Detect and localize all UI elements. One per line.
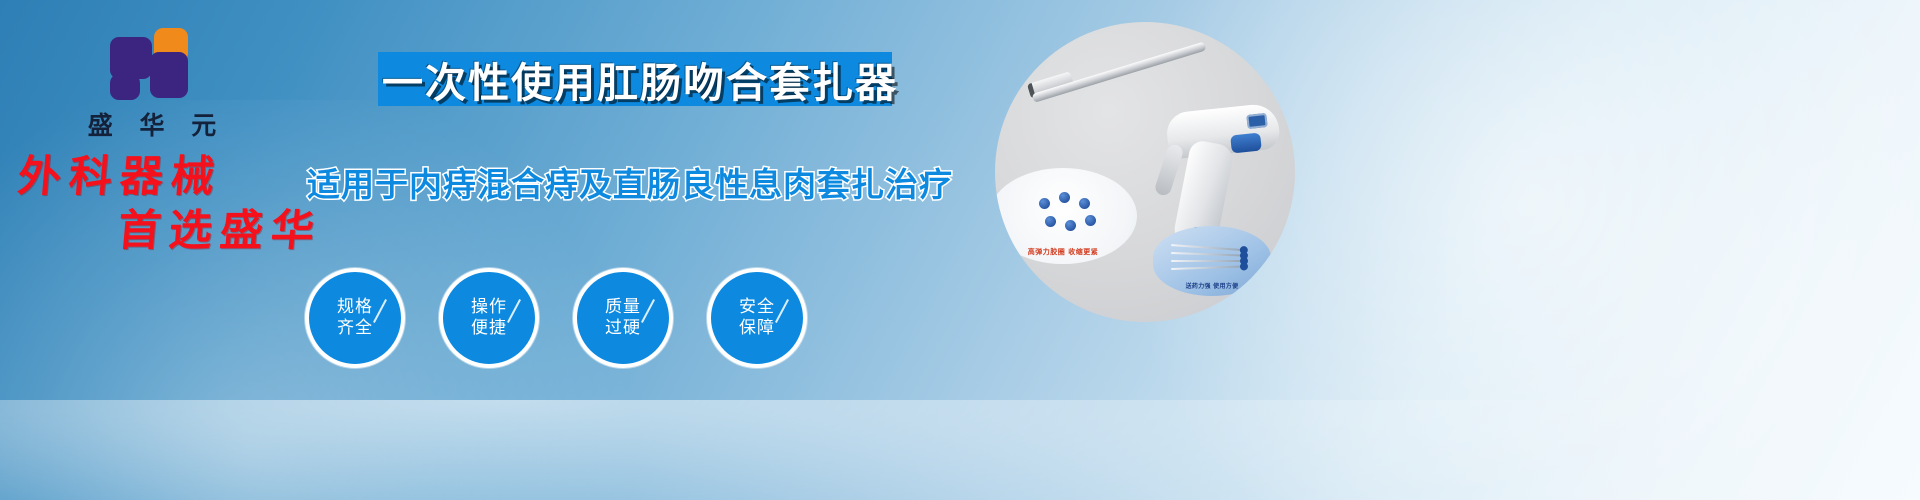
- feature-badge-list: 规格 齐全 操作 便捷 质量 过硬 安全 保障: [305, 268, 865, 368]
- feature-badge[interactable]: 质量 过硬: [573, 268, 673, 368]
- badge-slash-decor: [373, 299, 387, 323]
- brand-logo-icon: [110, 28, 194, 100]
- feature-badge[interactable]: 安全 保障: [707, 268, 807, 368]
- brand-logo[interactable]: 盛 华 元: [62, 28, 242, 142]
- brand-name: 盛 华 元: [62, 106, 242, 142]
- promo-banner: 盛 华 元 外科器械 首选盛华 一次性使用肛肠吻合套扎器 适用于内痔混合痔及直肠…: [0, 0, 1920, 500]
- inset-device-tip: [1185, 306, 1295, 322]
- badge-label-line2: 过硬: [605, 318, 641, 339]
- badge-slash-decor: [775, 299, 789, 323]
- badge-label-line2: 保障: [739, 318, 775, 339]
- inset-bands-caption: 高弹力胶圈 收缩更紧: [995, 247, 1137, 257]
- badge-label-line1: 规格: [337, 297, 373, 318]
- badge-slash-decor: [507, 299, 521, 323]
- badge-label-line1: 安全: [739, 297, 775, 318]
- inset-needles-caption: 送药力强 使用方便: [1153, 281, 1271, 290]
- product-photo: 高弹力胶圈 收缩更紧 送药力强 使用方便: [995, 22, 1295, 322]
- inset-rubber-bands: 高弹力胶圈 收缩更紧: [995, 168, 1137, 264]
- badge-label-line1: 操作: [471, 297, 507, 318]
- subtitle: 适用于内痔混合痔及直肠良性息肉套扎治疗: [300, 158, 960, 206]
- device-trigger: [1153, 143, 1184, 197]
- badge-label-line1: 质量: [605, 297, 641, 318]
- page-title: 一次性使用肛肠吻合套扎器: [340, 50, 940, 108]
- device-control-panel-icon: [1246, 113, 1267, 129]
- feature-badge[interactable]: 规格 齐全: [305, 268, 405, 368]
- device-barrel: [1032, 42, 1207, 103]
- badge-label-line2: 齐全: [337, 318, 373, 339]
- slogan-line-2: 首选盛华: [116, 206, 360, 256]
- inset-needles: 送药力强 使用方便: [1153, 226, 1271, 296]
- badge-slash-decor: [641, 299, 655, 323]
- feature-badge[interactable]: 操作 便捷: [439, 268, 539, 368]
- badge-label-line2: 便捷: [471, 318, 507, 339]
- bottom-light-wave: [0, 400, 1920, 500]
- device-blue-accent: [1230, 132, 1262, 153]
